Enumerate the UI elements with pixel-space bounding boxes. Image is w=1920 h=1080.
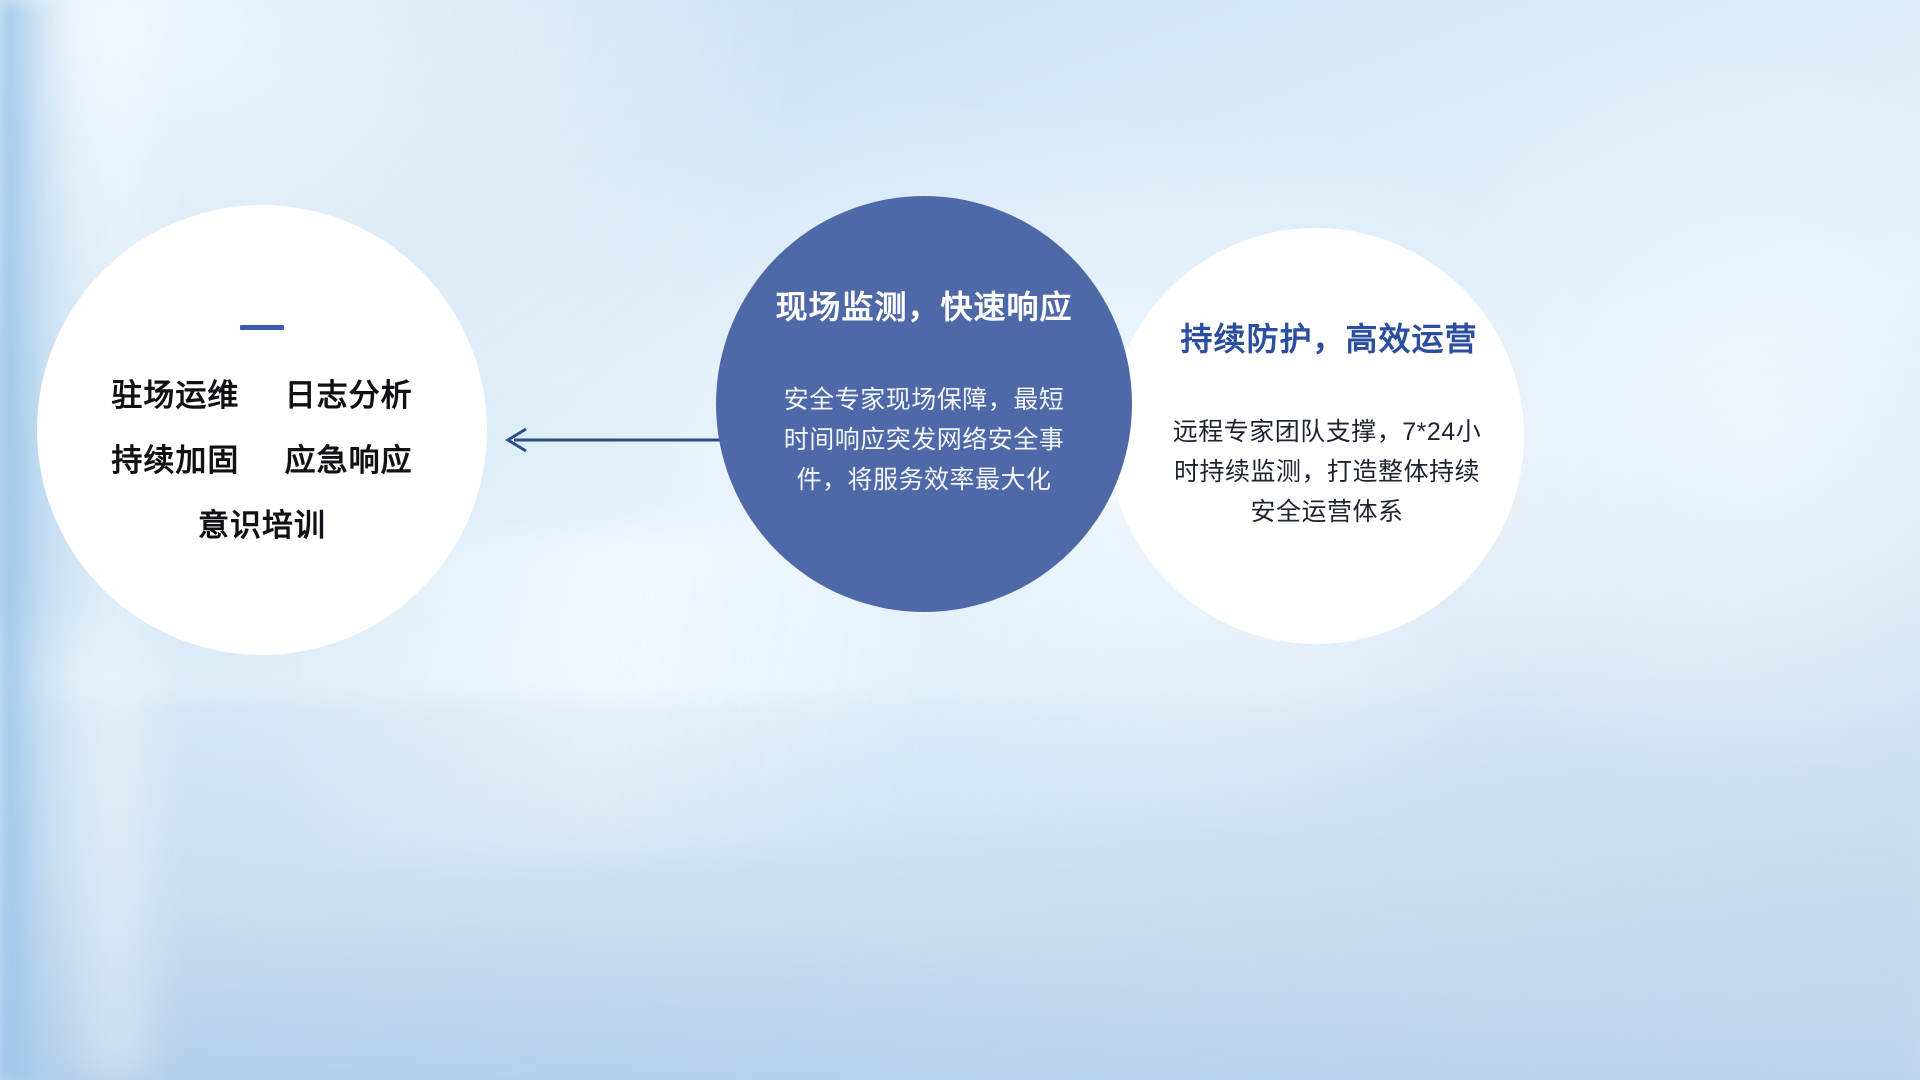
- circle-continuous-protection-content: 持续防护，高效运营 远程专家团队支撑，7*24小时持续监测，打造整体持续安全运营…: [1108, 228, 1524, 644]
- capability-row-2: 持续加固 应急响应: [111, 435, 412, 480]
- circle-right-body: 远程专家团队支撑，7*24小时持续监测，打造整体持续安全运营体系: [1140, 412, 1492, 532]
- diagram-canvas: 驻场运维 日志分析 持续加固 应急响应 意识培训 持续防护，高效运营 远程专家团…: [0, 0, 1920, 1080]
- circle-middle-body: 安全专家现场保障，最短时间响应突发网络安全事件，将服务效率最大化: [782, 380, 1066, 500]
- capability-row-3: 意识培训: [198, 500, 326, 545]
- circle-capabilities[interactable]: 驻场运维 日志分析 持续加固 应急响应 意识培训: [37, 205, 487, 655]
- capability-label-1a: 驻场运维: [111, 378, 239, 413]
- capability-list: 驻场运维 日志分析 持续加固 应急响应 意识培训: [111, 370, 412, 545]
- circle-capabilities-content: 驻场运维 日志分析 持续加固 应急响应 意识培训: [37, 205, 487, 655]
- circle-continuous-protection[interactable]: 持续防护，高效运营 远程专家团队支撑，7*24小时持续监测，打造整体持续安全运营…: [1108, 228, 1524, 644]
- circle-onsite-monitoring-content: 现场监测，快速响应 安全专家现场保障，最短时间响应突发网络安全事件，将服务效率最…: [716, 196, 1132, 612]
- capability-label-3a: 意识培训: [198, 508, 326, 543]
- capability-label-2b: 应急响应: [285, 443, 413, 478]
- capability-row-1: 驻场运维 日志分析: [111, 370, 412, 415]
- circle-onsite-monitoring[interactable]: 现场监测，快速响应 安全专家现场保障，最短时间响应突发网络安全事件，将服务效率最…: [716, 196, 1132, 612]
- background-bottom-fade: [0, 700, 1920, 1080]
- capability-label-1b: 日志分析: [285, 378, 413, 413]
- circle-right-title: 持续防护，高效运营: [1154, 314, 1477, 360]
- capability-label-2a: 持续加固: [111, 443, 239, 478]
- circle-middle-title: 现场监测，快速响应: [775, 282, 1072, 328]
- divider-dash: [240, 325, 284, 330]
